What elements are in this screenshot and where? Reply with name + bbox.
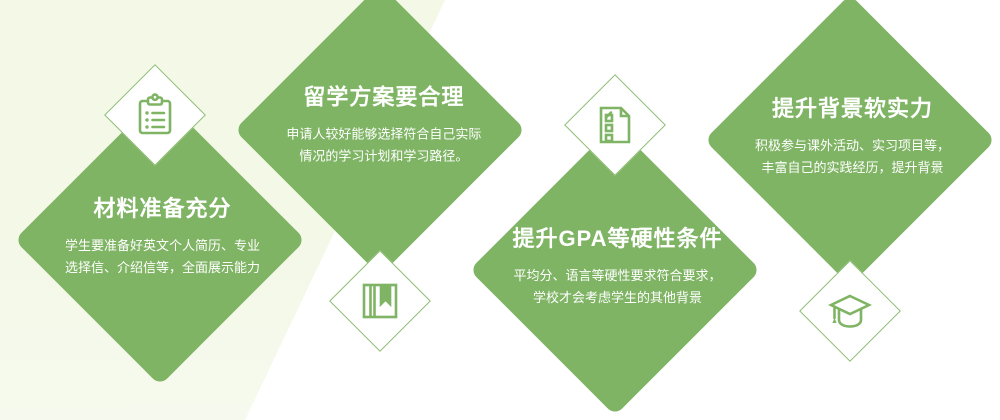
card-title: 提升背景软实力 [702,95,1000,123]
card-description-line: 选择信、介绍信等，全面展示能力 [12,257,312,280]
card-description: 申请人较好能够选择符合自己实际 情况的学习计划和学习路径。 [234,123,534,169]
icon-badge-study-plan [329,250,431,352]
graduation-cap-icon [824,285,876,337]
book-bookmark-icon [354,275,406,327]
card-content: 提升背景软实力 积极参与课外活动、实习项目等， 丰富自己的实践经历，提升背景 [702,95,1000,180]
card-description-line: 学生要准备好英文个人简历、专业 [12,235,312,258]
card-title: 提升GPA等硬性条件 [467,225,767,253]
card-title: 留学方案要合理 [234,84,534,112]
card-description-line: 丰富自己的实践经历，提升背景 [702,157,1000,180]
card-description-line: 积极参与课外活动、实习项目等， [702,135,1000,158]
card-description-line: 情况的学习计划和学习路径。 [234,146,534,169]
icon-badge-soft-background [799,260,901,362]
card-description: 平均分、语言等硬性要求符合要求， 学校才会考虑学生的其他背景 [467,265,767,311]
infographic-canvas: 材料准备充分 学生要准备好英文个人简历、专业 选择信、介绍信等，全面展示能力 留… [0,0,1000,420]
card-title: 材料准备充分 [12,195,312,223]
card-description-line: 学校才会考虑学生的其他背景 [467,287,767,310]
card-description: 学生要准备好英文个人简历、专业 选择信、介绍信等，全面展示能力 [12,235,312,280]
card-description-line: 平均分、语言等硬性要求符合要求， [467,265,767,288]
clipboard-checklist-icon [129,89,181,141]
card-description: 积极参与课外活动、实习项目等， 丰富自己的实践经历，提升背景 [702,135,1000,181]
card-content: 提升GPA等硬性条件 平均分、语言等硬性要求符合要求， 学校才会考虑学生的其他背… [467,225,767,310]
card-content: 留学方案要合理 申请人较好能够选择符合自己实际 情况的学习计划和学习路径。 [234,84,534,169]
document-checklist-icon [589,99,641,151]
card-description-line: 申请人较好能够选择符合自己实际 [234,123,534,146]
card-content: 材料准备充分 学生要准备好英文个人简历、专业 选择信、介绍信等，全面展示能力 [12,195,312,280]
